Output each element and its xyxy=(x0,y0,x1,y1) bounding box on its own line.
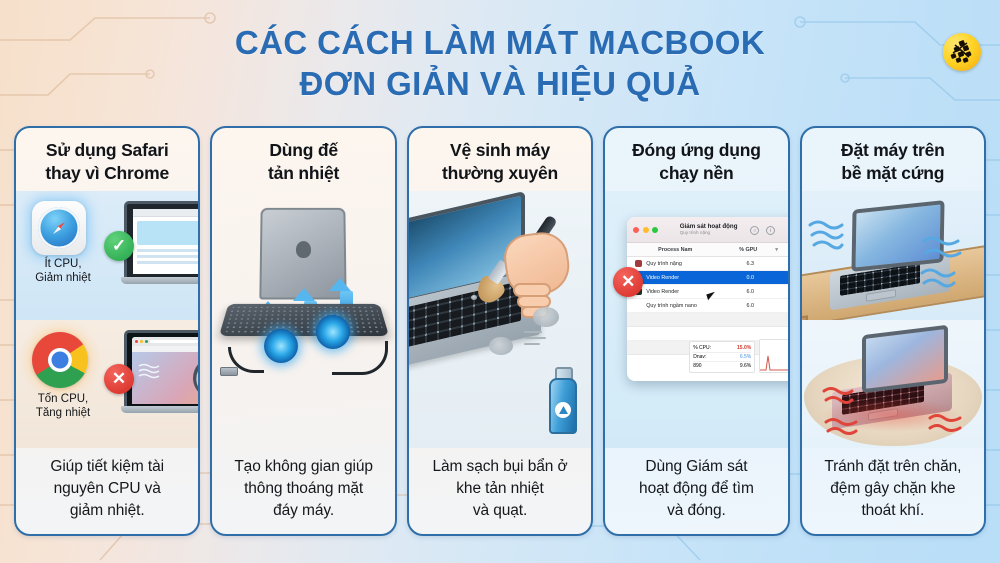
dust-cloud xyxy=(489,337,513,355)
heat-waves-bottom-icon xyxy=(824,416,868,438)
stat-label: 890 xyxy=(693,362,701,370)
dust-cloud xyxy=(533,307,559,327)
column-process-name[interactable]: Process Nam xyxy=(627,247,723,253)
stop-icon[interactable]: ○ xyxy=(750,226,759,235)
window-title: Giám sát hoạt động xyxy=(680,223,738,230)
apple-logo-icon xyxy=(296,242,311,259)
card-cleaning-title: Vệ sinh máy thường xuyên xyxy=(409,128,591,191)
heat-waves-right-icon xyxy=(928,412,972,436)
cool-airflow-right-icon xyxy=(920,233,972,293)
cpu-history-graph: CPU % xyxy=(759,339,787,373)
cards-row: Sử dụng Safari thay vì Chrome Ít CPU, Gi… xyxy=(14,126,986,536)
usb-connector xyxy=(220,367,238,376)
window-close-icon[interactable] xyxy=(633,227,639,233)
process-gpu: 6.0 xyxy=(723,303,777,309)
table-header-row: Process Nam % GPU ▾ xyxy=(627,243,787,257)
card-close-background-apps[interactable]: Đóng ứng dụng chạy nền Giám sát hoạt độn… xyxy=(603,126,789,536)
card-safari-art: Ít CPU, Giảm nhiệt ✓ xyxy=(16,191,198,448)
table-row-selected[interactable]: Video Render 0.0 xyxy=(627,271,787,285)
card-safari-title-line2: thay vì Chrome xyxy=(45,163,169,183)
card-hard-surface-title: Đặt máy trên bề mặt cứng xyxy=(802,128,984,191)
card-cleaning-art xyxy=(409,191,591,448)
process-gpu: 6.3 xyxy=(723,261,777,267)
card-safari-title: Sử dụng Safari thay vì Chrome xyxy=(16,128,198,191)
card-cleaning[interactable]: Vệ sinh máy thường xuyên xyxy=(407,126,593,536)
table-row-empty xyxy=(627,313,787,327)
title-line-1: CÁC CÁCH LÀM MÁT MACBOOK xyxy=(235,24,765,61)
brand-logo-icon[interactable] xyxy=(943,33,981,71)
laptop-screen-blanket xyxy=(862,324,948,393)
info-icon[interactable]: i xyxy=(766,226,775,235)
header: CÁC CÁCH LÀM MÁT MACBOOK ĐƠN GIẢN VÀ HIỆ… xyxy=(0,0,1000,120)
desk-panel xyxy=(802,191,984,320)
card-hard-surface-art xyxy=(802,191,984,448)
stat-row: 890 9.6% xyxy=(693,362,751,370)
card-hard-surface[interactable]: Đặt máy trên bề mặt cứng xyxy=(800,126,986,536)
card-cooling-pad[interactable]: Dùng đế tản nhiệt xyxy=(210,126,396,536)
card-cooling-pad-art xyxy=(212,191,394,448)
process-name: Quy trình ngầm nano xyxy=(646,303,723,309)
cross-icon: ✕ xyxy=(104,364,134,394)
heat-waves-left-icon xyxy=(822,386,862,412)
process-gpu: 0.0 xyxy=(723,275,777,281)
card-cooling-pad-caption: Tạo không gian giúp thông thoáng mặt đáy… xyxy=(212,448,394,534)
card-safari-title-line1: Sử dụng Safari xyxy=(46,140,169,160)
air-lines-icon xyxy=(523,327,557,349)
cooling-fan-left xyxy=(264,329,298,363)
window-subtitle: Quy trình nặng xyxy=(680,230,710,235)
card-cooling-pad-title: Dùng đế tản nhiệt xyxy=(212,128,394,191)
table-row[interactable]: Quy trình ngầm nano 6.0 xyxy=(627,299,787,313)
app-icon xyxy=(635,302,642,309)
laptop-chrome-mockup xyxy=(124,330,198,413)
window-minimize-icon[interactable] xyxy=(643,227,649,233)
chevron-down-icon[interactable]: ▾ xyxy=(775,247,778,253)
blanket-panel xyxy=(802,320,984,449)
stat-row: Dnav: 6.5% xyxy=(693,353,751,362)
cooling-pad-body xyxy=(219,304,389,336)
card-close-apps-caption: Dùng Giám sát hoạt động để tìm và đóng. xyxy=(605,448,787,534)
check-icon: ✓ xyxy=(104,231,134,261)
window-zoom-icon[interactable] xyxy=(652,227,658,233)
safari-good-panel: Ít CPU, Giảm nhiệt ✓ xyxy=(16,191,198,320)
stat-value: 9.6% xyxy=(740,362,751,370)
title-line-2: ĐƠN GIẢN VÀ HIỆU QUẢ xyxy=(0,63,1000,104)
card-close-apps-art: Giám sát hoạt động Quy trình nặng ○ i CP… xyxy=(605,191,787,448)
stat-value: 15.0% xyxy=(737,344,751,352)
app-icon xyxy=(635,260,642,267)
column-gpu[interactable]: % GPU xyxy=(723,247,773,253)
activity-monitor-window[interactable]: Giám sát hoạt động Quy trình nặng ○ i CP… xyxy=(627,217,787,381)
window-titlebar: Giám sát hoạt động Quy trình nặng ○ i CP… xyxy=(627,217,787,243)
page-title: CÁC CÁCH LÀM MÁT MACBOOK ĐƠN GIẢN VÀ HIỆ… xyxy=(0,22,1000,104)
card-hard-surface-caption: Tránh đặt trên chăn, đệm gây chặn khe th… xyxy=(802,448,984,534)
process-name: Video Render xyxy=(646,275,723,281)
card-safari[interactable]: Sử dụng Safari thay vì Chrome Ít CPU, Gi… xyxy=(14,126,200,536)
card-close-apps-title: Đóng ứng dụng chạy nền xyxy=(605,128,787,191)
process-name: Quy trình nặng xyxy=(646,261,723,267)
card-cleaning-caption: Làm sạch bụi bẩn ở khe tản nhiệt và quạt… xyxy=(409,448,591,534)
stat-label: % CPU: xyxy=(693,344,711,352)
dust-particle xyxy=(471,295,477,300)
chrome-icon xyxy=(32,332,88,388)
table-row[interactable]: Quy trình nặng 6.3 xyxy=(627,257,787,271)
safari-icon xyxy=(32,201,86,255)
card-safari-caption: Giúp tiết kiệm tài nguyên CPU và giảm nh… xyxy=(16,448,198,534)
safari-label: Ít CPU, Giảm nhiệt xyxy=(24,257,102,285)
stat-row: % CPU: 15.0% xyxy=(693,344,751,353)
process-gpu: 6.0 xyxy=(723,289,777,295)
stat-label: Dnav: xyxy=(693,353,706,361)
chrome-bad-panel: Tốn CPU, Tăng nhiệt ✕ xyxy=(16,320,198,449)
usb-cable-right xyxy=(332,341,388,375)
stats-panel: % CPU: 15.0% Dnav: 6.5% 890 9.6% xyxy=(689,341,755,373)
laptop-safari-mockup xyxy=(124,201,198,284)
cool-airflow-left-icon xyxy=(808,219,852,255)
stat-value: 6.5% xyxy=(740,353,751,361)
chrome-label: Tốn CPU, Tăng nhiệt xyxy=(24,392,102,420)
